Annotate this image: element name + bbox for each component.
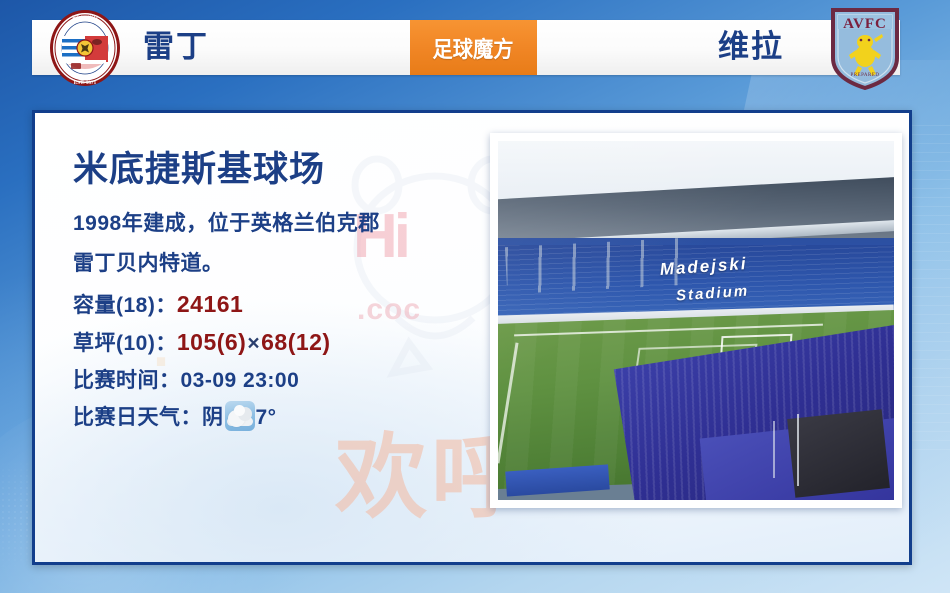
svg-text:PREPARED: PREPARED [850,73,879,78]
stadium-info-panel: Hi .coc 欢呼 . 米底捷斯基球场 1998年建成，位于英格兰伯克郡 雷丁… [32,110,912,565]
match-header: READING EST. 1871 雷丁 足球魔方 维拉 AVFC PREPAR… [0,0,950,95]
stadium-photo-frame[interactable]: Madejski Stadium [490,133,902,508]
pitch-width-value: 68(12) [261,329,330,355]
stadium-description-line-1: 1998年建成，位于英格兰伯克郡 [73,206,493,242]
stadium-description-line-2: 雷丁贝内特道。 [73,246,493,282]
svg-text:AVFC: AVFC [843,16,887,32]
pitch-row: 草坪(10)：105(6)×68(12) [73,324,493,362]
madejski-stadium-photo: Madejski Stadium [498,141,894,500]
photo-railing-2 [773,421,775,478]
site-brand-logo[interactable]: 足球魔方 [410,20,537,75]
home-team-name: 雷丁 [143,22,209,72]
aston-villa-crest: AVFC PREPARED [828,6,902,90]
pitch-times-sign: × [246,332,261,355]
stadium-title: 米底捷斯基球场 [73,141,493,192]
capacity-row: 容量(18)：24161 [73,286,493,324]
weather-row: 比赛日天气：阴7° [73,399,493,436]
cloudy-icon [225,401,255,431]
svg-text:EST. 1871: EST. 1871 [74,80,97,86]
capacity-label: 容量(18)： [73,294,177,317]
match-time-row: 比赛时间：03-09 23:00 [73,362,493,399]
away-team-name: 维拉 [718,22,784,72]
reading-fc-crest: READING EST. 1871 [48,8,122,88]
pitch-label: 草坪(10)： [73,332,177,355]
photo-railing-1 [797,414,799,486]
match-time-value: 03-09 23:00 [181,369,300,392]
weather-temperature: 7° [256,406,277,429]
stadium-details: 米底捷斯基球场 1998年建成，位于英格兰伯克郡 雷丁贝内特道。 容量(18)：… [73,141,493,436]
weather-condition: 阴 [202,406,224,429]
weather-label: 比赛日天气： [73,406,202,429]
photo-tunnel-structure [787,409,890,497]
capacity-value: 24161 [177,291,243,317]
match-time-label: 比赛时间： [73,369,181,392]
pitch-length-value: 105(6) [177,329,246,355]
svg-text:READING: READING [72,15,98,21]
site-brand-label: 足球魔方 [433,32,514,64]
